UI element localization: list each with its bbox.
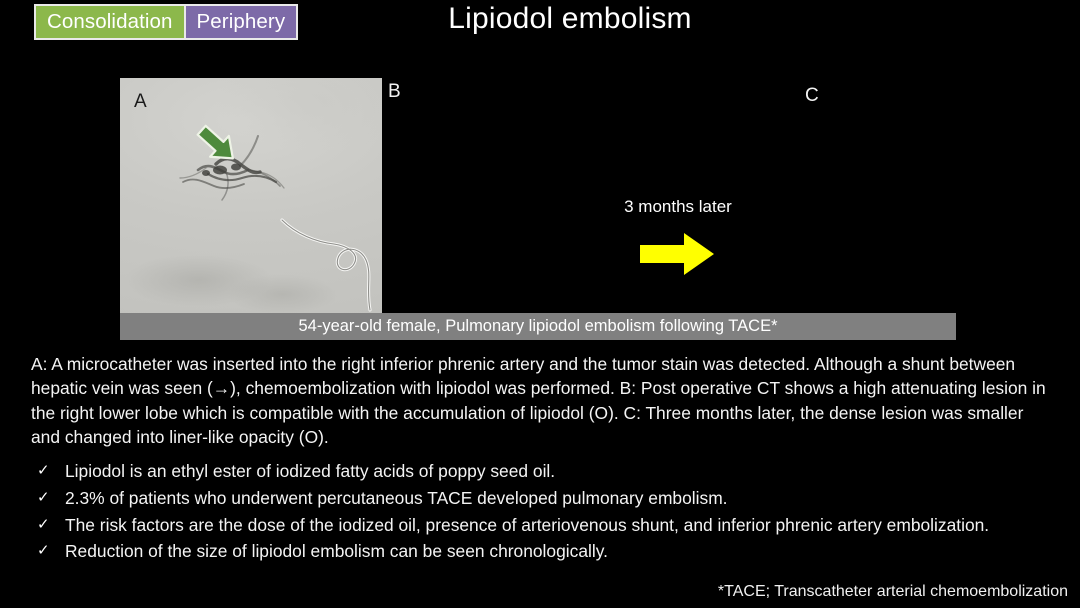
- panel-c-letter: C: [805, 86, 819, 105]
- check-icon: ✓: [37, 513, 65, 537]
- figure-caption-text: 54-year-old female, Pulmonary lipiodol e…: [298, 318, 777, 335]
- body-paragraph: A: A microcatheter was inserted into the…: [31, 352, 1051, 449]
- check-icon: ✓: [37, 459, 65, 483]
- figure-panel-b[interactable]: B: [382, 48, 608, 313]
- vessel-tree-graphic: [120, 78, 382, 313]
- figure-caption-bar: 54-year-old female, Pulmonary lipiodol e…: [120, 313, 956, 340]
- list-item-text: The risk factors are the dose of the iod…: [65, 513, 1047, 537]
- footnote: *TACE; Transcatheter arterial chemoembol…: [718, 582, 1068, 603]
- ct-image-b: [382, 48, 608, 313]
- yellow-arrow-icon: [638, 230, 716, 278]
- check-icon: ✓: [37, 486, 65, 510]
- figure-panel-a[interactable]: A: [120, 78, 382, 313]
- list-item-text: 2.3% of patients who underwent percutane…: [65, 486, 1047, 510]
- interval-annotation: 3 months later: [608, 48, 745, 313]
- interval-label: 3 months later: [611, 198, 745, 215]
- figure-strip: A: [0, 48, 1080, 313]
- list-item: ✓ Lipiodol is an ethyl ester of iodized …: [37, 459, 1047, 483]
- list-item-text: Lipiodol is an ethyl ester of iodized fa…: [65, 459, 1047, 483]
- ct-image-c: [745, 48, 956, 313]
- green-arrow-icon: [190, 120, 246, 170]
- figure-panel-c[interactable]: C: [745, 48, 956, 313]
- list-item: ✓ Reduction of the size of lipiodol embo…: [37, 539, 1047, 563]
- key-points-list: ✓ Lipiodol is an ethyl ester of iodized …: [37, 459, 1047, 566]
- panel-b-letter: B: [388, 82, 401, 101]
- list-item-text: Reduction of the size of lipiodol emboli…: [65, 539, 1047, 563]
- check-icon: ✓: [37, 539, 65, 563]
- list-item: ✓ 2.3% of patients who underwent percuta…: [37, 486, 1047, 510]
- list-item: ✓ The risk factors are the dose of the i…: [37, 513, 1047, 537]
- panel-a-letter: A: [134, 92, 147, 111]
- page-title: Lipiodol embolism: [0, 2, 1080, 36]
